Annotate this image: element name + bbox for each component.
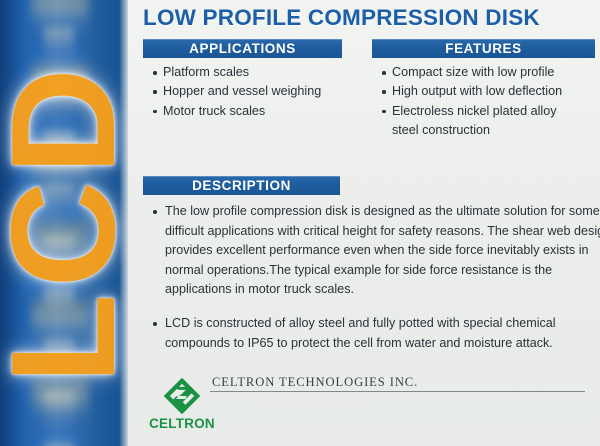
list-item: Platform scales: [152, 63, 352, 82]
features-item-text: High output with low deflection: [392, 84, 562, 98]
celtron-logo-wordmark: CELTRON: [148, 416, 216, 431]
list-item: The low profile compression disk is desi…: [152, 202, 600, 300]
features-item-text: Electroless nickel plated alloy: [392, 104, 557, 118]
list-item: LCD is constructed of alloy steel and fu…: [152, 314, 600, 353]
description-heading-bar: DESCRIPTION: [143, 176, 340, 195]
applications-item-text: Motor truck scales: [163, 104, 265, 118]
list-item: Compact size with low profile: [381, 63, 600, 82]
list-item: Electroless nickel plated alloy steel co…: [381, 102, 600, 141]
celtron-diamond-s-logo-icon: [163, 377, 201, 415]
features-heading-label: FEATURES: [445, 42, 522, 56]
datasheet-page: LCD LOW PROFILE COMPRESSION DISK APPLICA…: [0, 0, 600, 446]
applications-list: Platform scales Hopper and vessel weighi…: [152, 63, 352, 121]
list-item: Hopper and vessel weighing: [152, 82, 352, 101]
features-list: Compact size with low profile High outpu…: [381, 63, 600, 141]
applications-heading-bar: APPLICATIONS: [143, 39, 342, 58]
list-item: High output with low deflection: [381, 82, 600, 101]
features-item-text-continuation: steel construction: [392, 121, 600, 140]
footer-company-name: CELTRON TECHNOLOGIES INC.: [212, 375, 418, 390]
content-area: LOW PROFILE COMPRESSION DISK APPLICATION…: [128, 0, 600, 446]
description-paragraph: The low profile compression disk is desi…: [165, 204, 600, 296]
spine-product-code: LCD: [0, 62, 128, 384]
description-list: The low profile compression disk is desi…: [152, 202, 600, 367]
description-paragraph: LCD is constructed of alloy steel and fu…: [165, 316, 556, 350]
list-item: Motor truck scales: [152, 102, 352, 121]
applications-item-text: Platform scales: [163, 65, 249, 79]
applications-heading-label: APPLICATIONS: [189, 42, 296, 56]
footer-divider: [210, 391, 585, 392]
product-spine-panel: LCD: [0, 0, 128, 446]
applications-item-text: Hopper and vessel weighing: [163, 84, 321, 98]
features-item-text: Compact size with low profile: [392, 65, 554, 79]
description-heading-label: DESCRIPTION: [192, 179, 291, 193]
celtron-logo: CELTRON: [148, 377, 216, 431]
page-title: LOW PROFILE COMPRESSION DISK: [143, 5, 540, 31]
features-heading-bar: FEATURES: [372, 39, 595, 58]
